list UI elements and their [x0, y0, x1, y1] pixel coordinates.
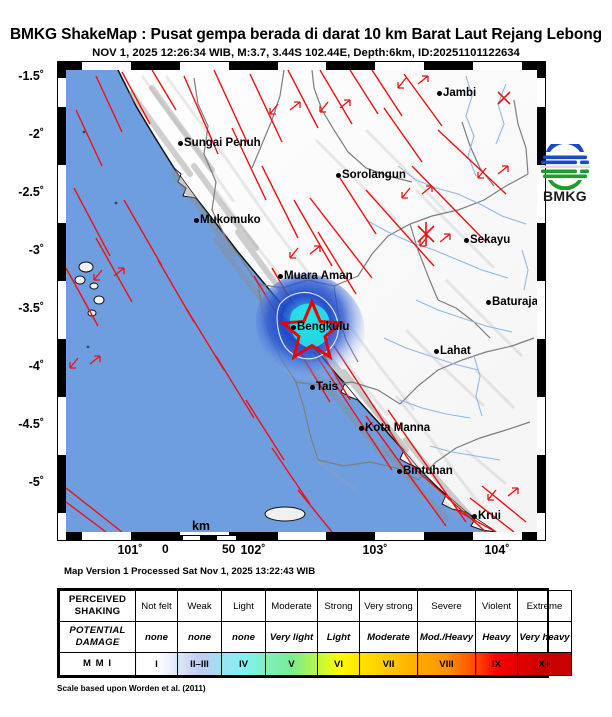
map-version-text: Map Version 1 Processed Sat Nov 1, 2025 …: [64, 566, 315, 577]
scale-unit-label: km: [170, 519, 232, 533]
cell-damage-7: Mod./Heavy: [418, 622, 476, 653]
intensity-legend-table: PERCEIVED SHAKING Not felt Weak Light Mo…: [59, 590, 572, 676]
legend-rowlabel-mmi: M M I: [60, 653, 136, 676]
y-tick-8: -5˚: [29, 475, 44, 489]
y-tick-1: -1.5˚: [18, 69, 44, 83]
legend-row-mmi: M M I I II–III IV V VI VII VIII IX X+: [60, 653, 572, 676]
x-tick-3: 103˚: [362, 543, 387, 557]
cell-shaking-6: Very strong: [360, 591, 418, 622]
legend-credit: Scale based upon Worden et al. (2011): [57, 684, 206, 693]
cell-damage-8: Heavy: [476, 622, 518, 653]
legend-rowlabel-potential-damage: POTENTIAL DAMAGE: [60, 622, 136, 653]
cell-shaking-5: Strong: [318, 591, 360, 622]
legend-row-potential-damage: POTENTIAL DAMAGE none none none Very lig…: [60, 622, 572, 653]
cell-mmi-5: VI: [318, 653, 360, 676]
cell-damage-4: Very light: [266, 622, 318, 653]
latitude-axis: -1.5˚ -2˚ -2.5˚ -3˚ -3.5˚ -4˚ -4.5˚ -5˚: [0, 61, 52, 541]
cell-mmi-4: V: [266, 653, 318, 676]
cell-damage-1: none: [136, 622, 178, 653]
cell-damage-2: none: [178, 622, 222, 653]
cell-shaking-3: Light: [222, 591, 266, 622]
cell-damage-3: none: [222, 622, 266, 653]
x-tick-2: 102˚: [240, 543, 265, 557]
legend-row-perceived-shaking: PERCEIVED SHAKING Not felt Weak Light Mo…: [60, 591, 572, 622]
cell-mmi-9: X+: [518, 653, 572, 676]
cell-mmi-3: IV: [222, 653, 266, 676]
y-tick-6: -4˚: [29, 359, 44, 373]
event-subtitle: NOV 1, 2025 12:26:34 WIB, M:3.7, 3.44S 1…: [0, 43, 612, 59]
bmkg-logo: BMKG: [530, 144, 600, 208]
x-tick-1: 101˚: [117, 543, 142, 557]
shakemap-map[interactable]: Jambi Sungai Penuh Sorolangun Mukomuko S…: [57, 61, 546, 541]
cell-damage-9: Very heavy: [518, 622, 572, 653]
bmkg-logo-icon: [530, 144, 600, 190]
cell-shaking-4: Moderate: [266, 591, 318, 622]
y-tick-5: -3.5˚: [18, 301, 44, 315]
longitude-axis: 101˚ 102˚ 103˚ 104˚: [57, 543, 546, 563]
cell-shaking-8: Violent: [476, 591, 518, 622]
cell-damage-6: Moderate: [360, 622, 418, 653]
cell-mmi-8: IX: [476, 653, 518, 676]
cell-shaking-2: Weak: [178, 591, 222, 622]
bmkg-logo-text: BMKG: [530, 188, 600, 204]
cell-shaking-7: Severe: [418, 591, 476, 622]
cell-mmi-7: VIII: [418, 653, 476, 676]
page-title: BMKG ShakeMap : Pusat gempa berada di da…: [0, 0, 612, 43]
cell-mmi-2: II–III: [178, 653, 222, 676]
y-tick-3: -2.5˚: [18, 185, 44, 199]
legend-rowlabel-perceived-shaking: PERCEIVED SHAKING: [60, 591, 136, 622]
cell-shaking-1: Not felt: [136, 591, 178, 622]
x-tick-4: 104˚: [484, 543, 509, 557]
cell-mmi-1: I: [136, 653, 178, 676]
cell-mmi-6: VII: [360, 653, 418, 676]
y-tick-7: -4.5˚: [18, 417, 44, 431]
cell-shaking-9: Extreme: [518, 591, 572, 622]
map-frame: [57, 61, 546, 541]
y-tick-4: -3˚: [29, 243, 44, 257]
y-tick-2: -2˚: [29, 127, 44, 141]
header: BMKG ShakeMap : Pusat gempa berada di da…: [0, 0, 612, 59]
intensity-legend: PERCEIVED SHAKING Not felt Weak Light Mo…: [57, 588, 549, 678]
cell-damage-5: Light: [318, 622, 360, 653]
